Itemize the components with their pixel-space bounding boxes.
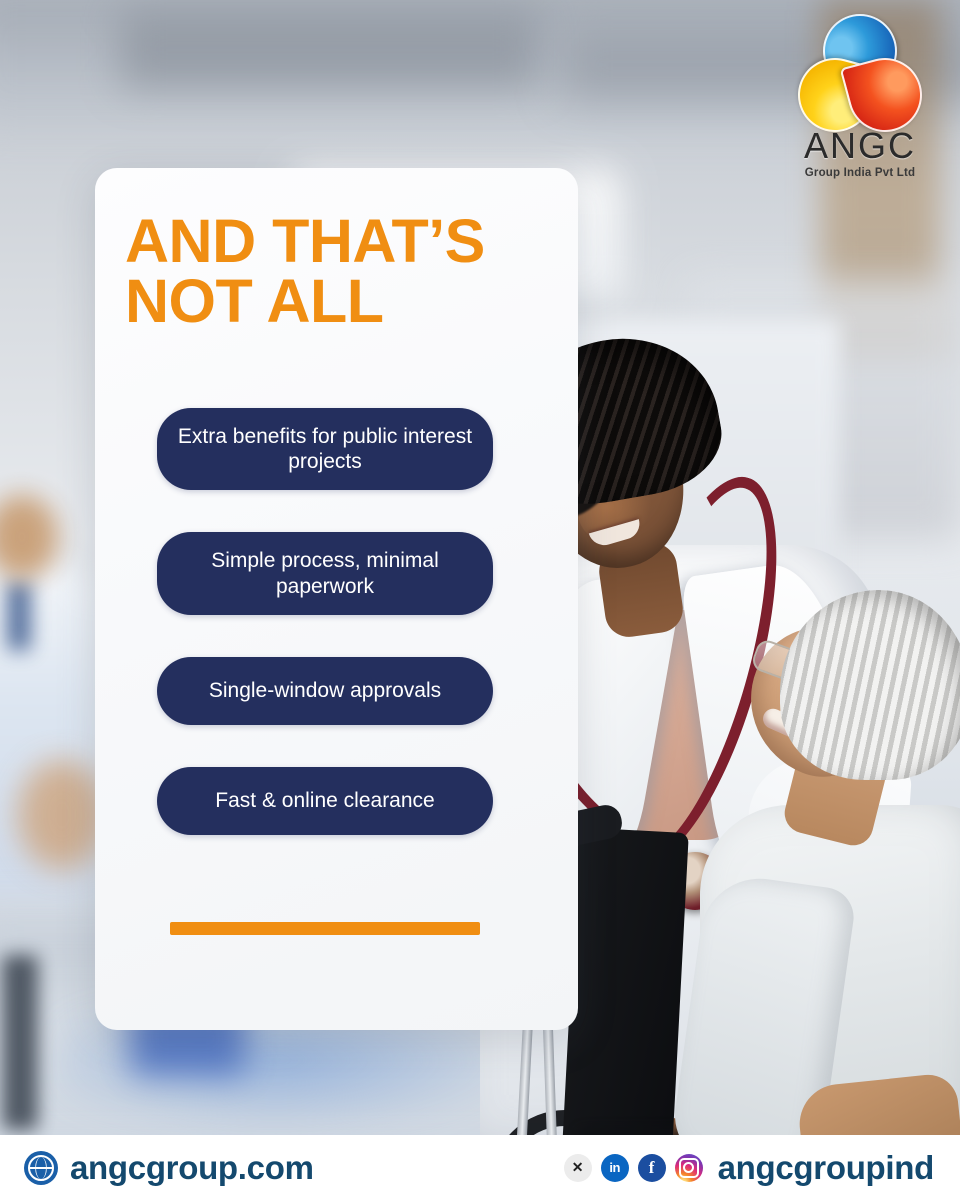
benefits-list: Extra benefits for public interest proje…: [157, 408, 493, 835]
orange-divider: [170, 922, 480, 935]
benefit-pill[interactable]: Single-window approvals: [157, 657, 493, 725]
website-link[interactable]: angcgroup.com: [24, 1149, 314, 1187]
logo-wordmark: ANGC: [790, 128, 930, 164]
patient-hair: [780, 590, 960, 780]
headline-line-2: NOT ALL: [125, 272, 545, 332]
wheelchair-backrest: [561, 827, 689, 1172]
company-logo[interactable]: ANGC Group India Pvt Ltd: [790, 14, 930, 179]
footer-bar: angcgroup.com ✕ in f angcgroupind: [0, 1135, 960, 1200]
logo-tagline: Group India Pvt Ltd: [790, 167, 930, 179]
benefit-pill[interactable]: Simple process, minimal paperwork: [157, 532, 493, 614]
instagram-icon[interactable]: [675, 1154, 703, 1182]
linkedin-icon[interactable]: in: [601, 1154, 629, 1182]
ceiling-panel-left: [120, 10, 540, 88]
facebook-icon[interactable]: f: [638, 1154, 666, 1182]
patient-figure: [640, 590, 960, 1200]
headline-line-1: AND THAT’S: [125, 212, 545, 272]
dark-pole: [2, 955, 38, 1130]
content-card: AND THAT’S NOT ALL Extra benefits for pu…: [95, 168, 578, 1030]
website-label: angcgroup.com: [70, 1149, 314, 1187]
globe-icon: [24, 1151, 58, 1185]
logo-mark-icon: [798, 14, 922, 132]
social-media-poster: ANGC Group India Pvt Ltd AND THAT’S NOT …: [0, 0, 960, 1200]
x-icon[interactable]: ✕: [564, 1154, 592, 1182]
blurred-staff-tie: [8, 580, 30, 650]
blurred-staff-hand: [18, 760, 106, 870]
benefit-pill[interactable]: Extra benefits for public interest proje…: [157, 408, 493, 490]
benefit-pill[interactable]: Fast & online clearance: [157, 767, 493, 835]
page-title: AND THAT’S NOT ALL: [125, 212, 545, 332]
social-links: ✕ in f angcgroupind: [564, 1149, 934, 1187]
social-handle: angcgroupind: [718, 1149, 934, 1187]
